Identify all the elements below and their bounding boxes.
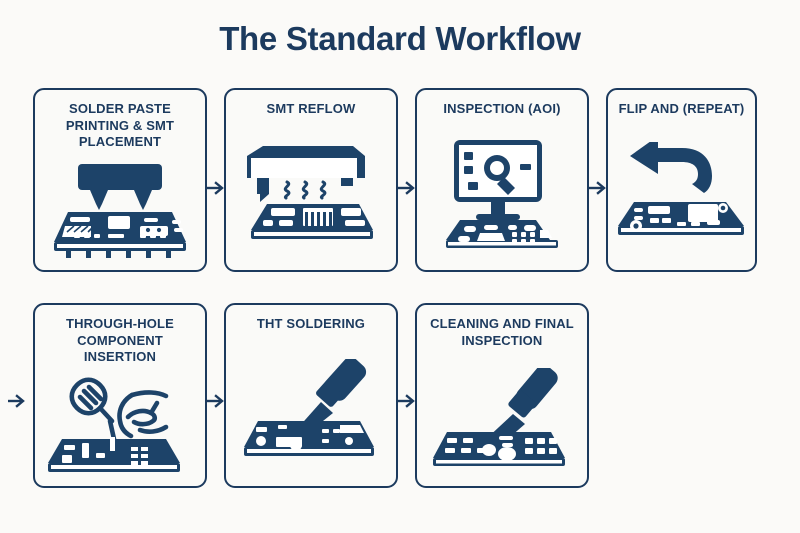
step-card-4-label: FLIP AND (REPEAT) — [614, 101, 749, 118]
step-card-7[interactable]: CLEANING AND FINAL INSPECTION — [415, 303, 589, 488]
arrow-wrap-into-step5 — [8, 392, 26, 410]
step-card-2[interactable]: SMT REFLOW — [224, 88, 398, 272]
step-card-2-label: SMT REFLOW — [233, 101, 389, 118]
cleaning-brush-icon — [417, 349, 587, 486]
step-card-1[interactable]: SOLDER PASTE PRINTING & SMT PLACEMENT — [33, 88, 207, 272]
step-card-7-label: CLEANING AND FINAL INSPECTION — [424, 316, 580, 349]
step-card-5[interactable]: THROUGH-HOLE COMPONENT INSERTION — [33, 303, 207, 488]
arrow-step1-to-step2 — [207, 179, 225, 197]
step-card-5-label: THROUGH-HOLE COMPONENT INSERTION — [42, 316, 198, 366]
flip-arrow-pcb-icon — [608, 118, 755, 271]
reflow-oven-icon — [226, 118, 396, 271]
pick-and-place-machine-icon — [35, 151, 205, 271]
hand-inserting-component-icon — [35, 366, 205, 487]
soldering-iron-icon — [226, 333, 396, 487]
step-card-6-label: THT SOLDERING — [233, 316, 389, 333]
page-title: The Standard Workflow — [0, 20, 800, 58]
arrow-step6-to-step7 — [398, 392, 416, 410]
step-card-3-label: INSPECTION (AOI) — [424, 101, 580, 118]
inspection-monitor-icon — [417, 118, 587, 271]
step-card-4[interactable]: FLIP AND (REPEAT) — [606, 88, 757, 272]
arrow-step2-to-step3 — [398, 179, 416, 197]
step-card-1-label: SOLDER PASTE PRINTING & SMT PLACEMENT — [42, 101, 198, 151]
step-card-6[interactable]: THT SOLDERING — [224, 303, 398, 488]
arrow-step3-to-step4 — [589, 179, 607, 197]
arrow-step5-to-step6 — [207, 392, 225, 410]
step-card-3[interactable]: INSPECTION (AOI) — [415, 88, 589, 272]
